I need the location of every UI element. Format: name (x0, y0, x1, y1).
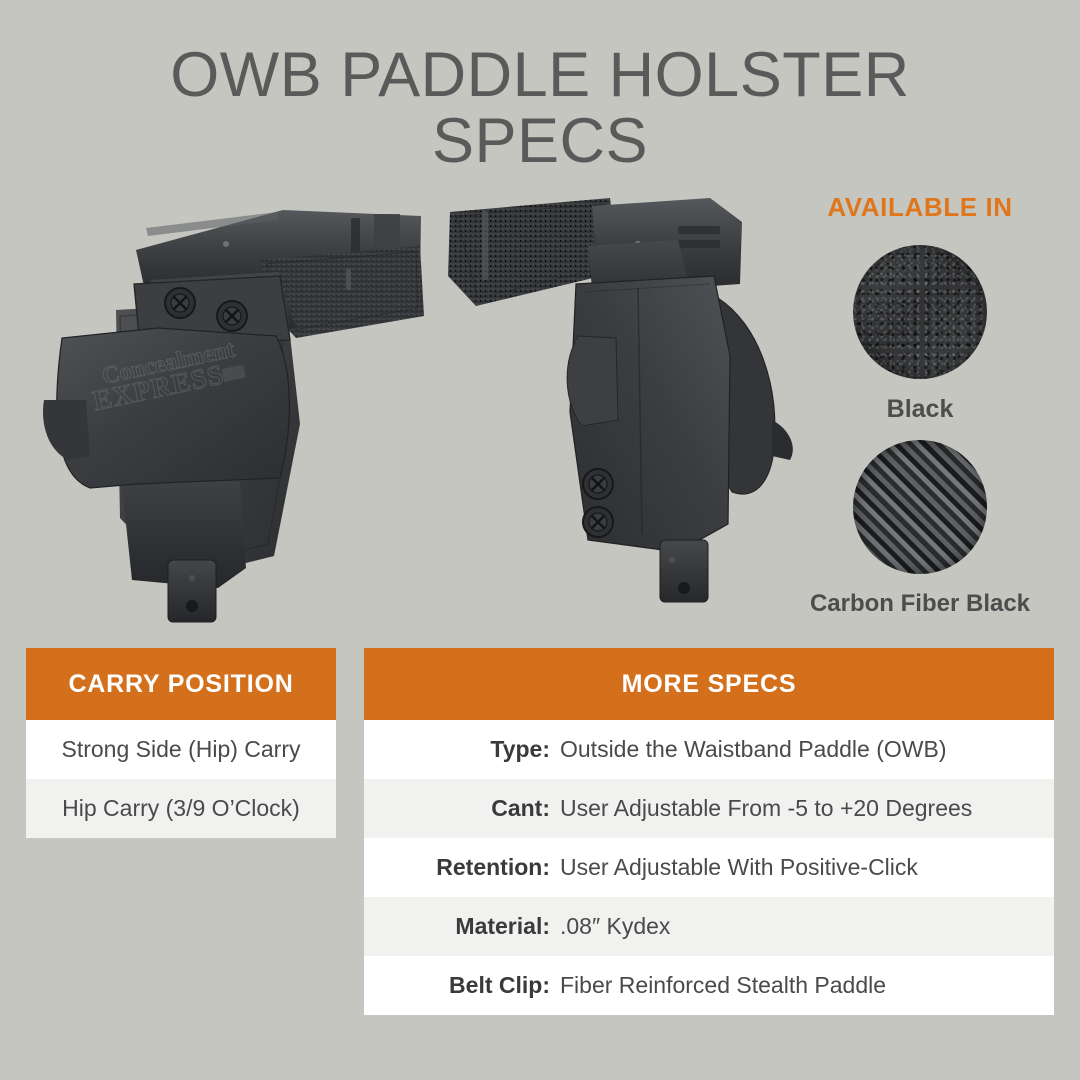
carry-position-panel: CARRY POSITION Strong Side (Hip) Carry H… (26, 648, 336, 838)
spec-label: Cant: (364, 795, 560, 822)
paddle-mount-tab (168, 560, 216, 622)
more-specs-panel: MORE SPECS Type: Outside the Waistband P… (364, 648, 1054, 1015)
black-swatch[interactable] (853, 245, 987, 379)
stealth-paddle: Concealment EXPRESS (43, 328, 289, 488)
swatch-item-carbon-fiber-black[interactable]: Carbon Fiber Black (770, 440, 1070, 618)
carry-position-value: Strong Side (Hip) Carry (61, 736, 300, 763)
spec-row: Material: .08″ Kydex (364, 897, 1054, 956)
black-swatch-label: Black (770, 395, 1070, 424)
spec-value: User Adjustable From -5 to +20 Degrees (560, 795, 972, 822)
spec-label: Material: (364, 913, 560, 940)
spec-row: Cant: User Adjustable From -5 to +20 Deg… (364, 779, 1054, 838)
spec-label: Belt Clip: (364, 972, 560, 999)
carry-position-row: Strong Side (Hip) Carry (26, 720, 336, 779)
spec-row: Retention: User Adjustable With Positive… (364, 838, 1054, 897)
screw-upper (583, 469, 613, 499)
paddle-mount-tab (660, 540, 708, 602)
spec-value: .08″ Kydex (560, 913, 670, 940)
spec-value: User Adjustable With Positive-Click (560, 854, 918, 881)
carry-position-header: CARRY POSITION (26, 648, 336, 720)
spec-row: Belt Clip: Fiber Reinforced Stealth Padd… (364, 956, 1054, 1015)
page-title-line-2: SPECS (0, 108, 1080, 174)
carry-position-row: Hip Carry (3/9 O’Clock) (26, 779, 336, 838)
carry-position-value: Hip Carry (3/9 O’Clock) (62, 795, 300, 822)
spec-row: Type: Outside the Waistband Paddle (OWB) (364, 720, 1054, 779)
spec-label: Type: (364, 736, 560, 763)
page-title: OWB PADDLE HOLSTER SPECS (0, 42, 1080, 174)
spec-value: Fiber Reinforced Stealth Paddle (560, 972, 886, 999)
screw-lower (217, 301, 247, 331)
spec-label: Retention: (364, 854, 560, 881)
available-in-heading: AVAILABLE IN (770, 192, 1070, 223)
swatch-item-black[interactable]: Black (770, 245, 1070, 424)
screw-lower (583, 507, 613, 537)
spec-value: Outside the Waistband Paddle (OWB) (560, 736, 947, 763)
page-title-line-1: OWB PADDLE HOLSTER (170, 40, 909, 110)
holster-image-paddle-view: Concealment EXPRESS (28, 188, 428, 628)
screw-upper (165, 288, 195, 318)
available-in-section: AVAILABLE IN Black Carbon Fiber Black (770, 192, 1070, 618)
carbon-fiber-black-swatch-label: Carbon Fiber Black (770, 590, 1070, 618)
holster-image-front-view (442, 188, 822, 628)
carbon-fiber-black-swatch[interactable] (853, 440, 987, 574)
more-specs-header: MORE SPECS (364, 648, 1054, 720)
